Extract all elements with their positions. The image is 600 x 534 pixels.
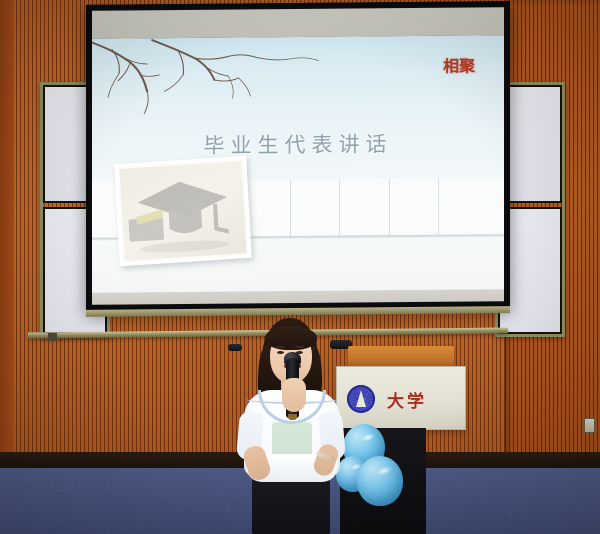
- graduation-cap-icon: [119, 162, 246, 262]
- speaker-eye: [277, 351, 284, 354]
- speaker-eyebrow: [295, 346, 304, 348]
- wall-left-edge: [0, 0, 14, 470]
- podium-wooden-top: [348, 346, 454, 368]
- photo-inner: [119, 162, 246, 262]
- projection-screen: 相聚 毕业生代表讲话: [86, 1, 510, 311]
- podium-university-text: 大学: [387, 387, 427, 412]
- slide-title: 毕业生代表讲话: [92, 127, 504, 161]
- screen-blank-band: [92, 7, 504, 39]
- screen-bottom-band: [92, 289, 504, 305]
- rail-clip: [48, 333, 57, 341]
- presentation-slide: 相聚 毕业生代表讲话: [92, 35, 504, 294]
- tree-branch-icon: [92, 37, 323, 131]
- graduate-representative-speaker: [232, 318, 352, 534]
- speaker-hand: [282, 378, 306, 412]
- podium-front-panel: 大学: [336, 366, 466, 430]
- speaker-bangs: [265, 326, 317, 350]
- slide-seal-calligraphy: 相聚: [443, 58, 475, 75]
- microphone-tip: [288, 414, 297, 420]
- speaker-skirt: [252, 476, 330, 534]
- speaker-eyebrow: [276, 346, 285, 348]
- graduation-cap-photo: [114, 156, 251, 266]
- blue-balloon: [357, 456, 403, 506]
- photo-scene: 相聚 毕业生代表讲话: [0, 0, 600, 534]
- wall-power-outlet: [584, 418, 595, 433]
